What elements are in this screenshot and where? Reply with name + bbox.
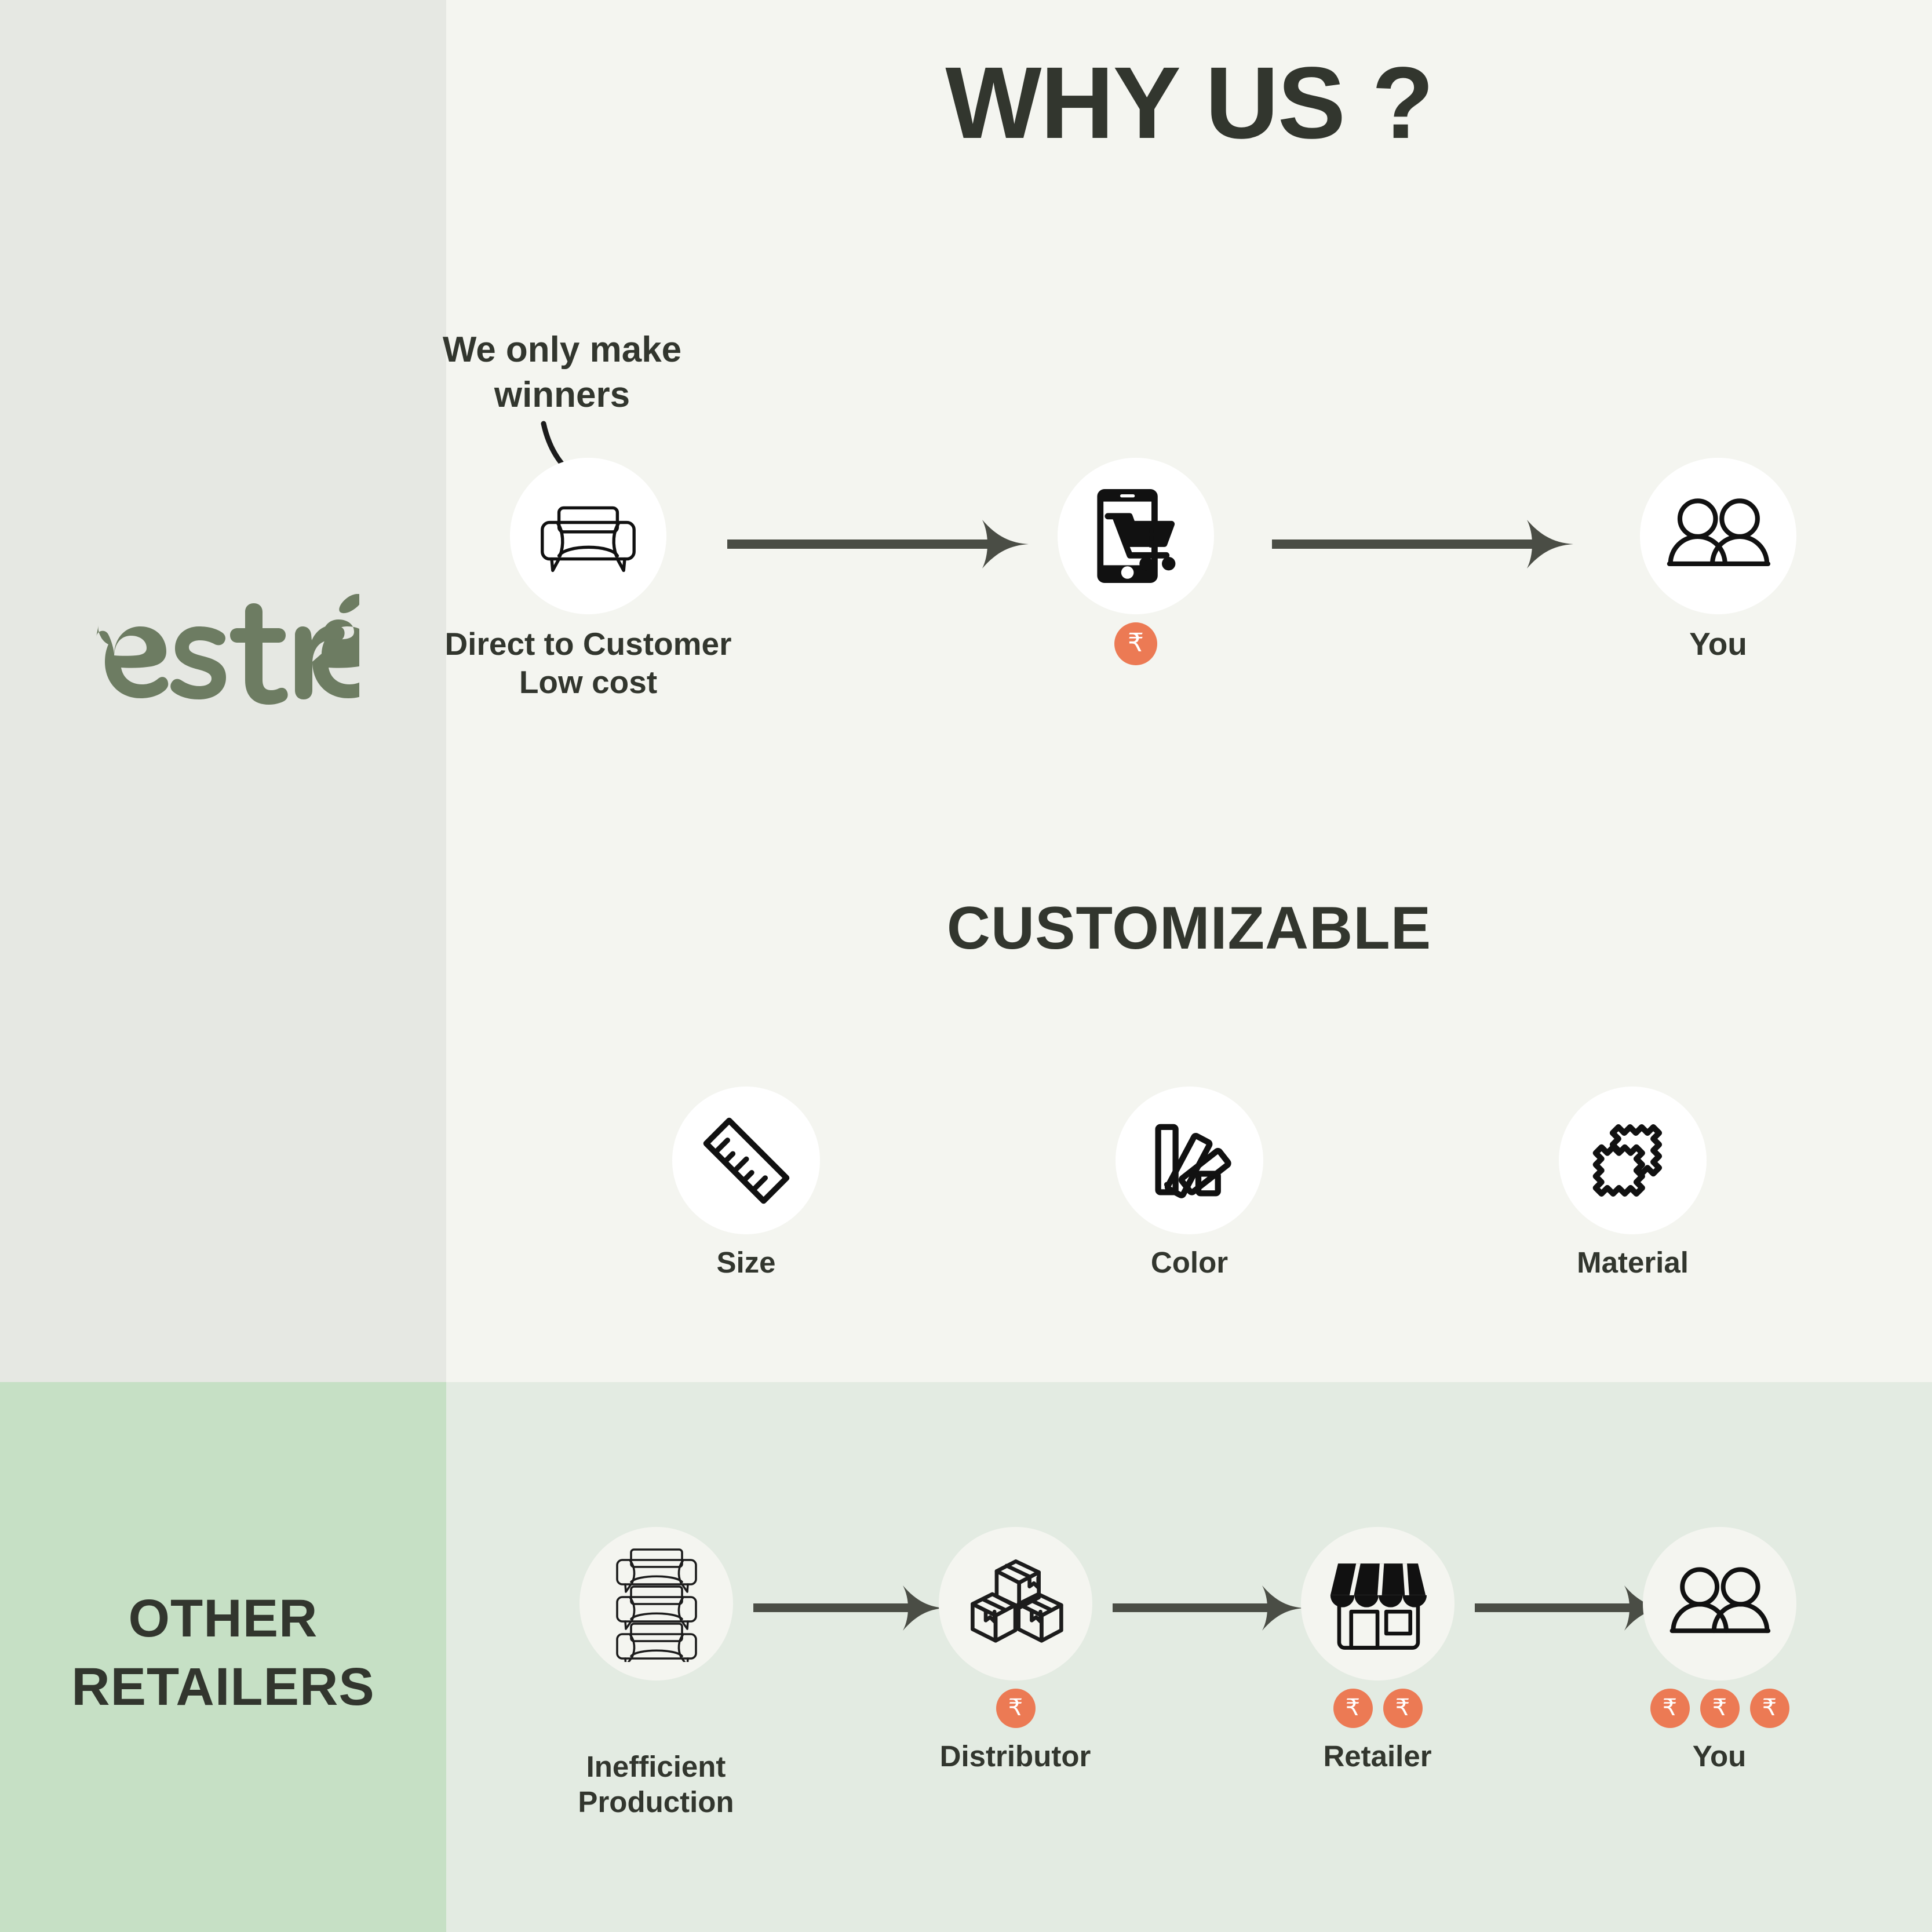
- retailer-step-2-coins: ₹: [939, 1689, 1092, 1728]
- fabric-swatches-icon: [1588, 1116, 1678, 1205]
- retailer-flow-arrow-2: [1113, 1582, 1304, 1634]
- estre-step-3-line1: You: [1640, 625, 1796, 663]
- material-bubble: [1559, 1087, 1707, 1234]
- two-people-icon: [1666, 1565, 1773, 1643]
- color-swatch-fan-icon: [1146, 1117, 1233, 1204]
- estre-wordmark-logo: [87, 594, 359, 710]
- sofa-icon: [536, 498, 640, 574]
- retailer-flow-step-production: Inefficient Production: [579, 1527, 733, 1820]
- customizable-option-size: Size: [672, 1087, 820, 1280]
- you-bubble-top: [1640, 458, 1796, 614]
- rupee-coin: ₹: [996, 1689, 1036, 1728]
- rupee-coin: ₹: [1114, 622, 1157, 665]
- size-bubble: [672, 1087, 820, 1234]
- boxes-icon: [964, 1555, 1068, 1653]
- rupee-coin: ₹: [1700, 1689, 1740, 1728]
- estre-flow-step-sofa: Direct to Customer Low cost: [510, 458, 666, 701]
- ruler-icon: [700, 1114, 793, 1207]
- rupee-coin: ₹: [1650, 1689, 1690, 1728]
- other-retailers-title: OTHER RETAILERS: [0, 1585, 446, 1722]
- rupee-coin: ₹: [1750, 1689, 1789, 1728]
- other-retailers-line1: OTHER: [0, 1585, 446, 1653]
- retailer-flow-arrow-1: [753, 1582, 945, 1634]
- mobile-cart-bubble: [1058, 458, 1214, 614]
- customizable-option-material: Material: [1559, 1087, 1707, 1280]
- stacked-sofas-bubble: [579, 1527, 733, 1681]
- estre-flow-arrow-1: [727, 513, 1029, 577]
- retailer-step-3-label: Retailer: [1256, 1738, 1499, 1774]
- stacked-sofas-icon: [610, 1546, 703, 1662]
- brand-logo: [0, 594, 446, 712]
- retailer-step-4-coins: ₹ ₹ ₹: [1643, 1689, 1796, 1728]
- estre-step-1-line2: Low cost: [414, 663, 762, 701]
- color-bubble: [1116, 1087, 1263, 1234]
- retailer-step-1-label: Inefficient Production: [505, 1749, 807, 1820]
- estre-step-3-label: You: [1640, 625, 1796, 663]
- estre-flow-step-mobile-cart: ₹: [1058, 458, 1214, 665]
- estre-flow-step-you: You: [1640, 458, 1796, 663]
- retailer-flow-step-you: ₹ ₹ ₹ You: [1643, 1527, 1796, 1774]
- boxes-bubble: [939, 1527, 1092, 1681]
- retailer-step-4-line1: You: [1598, 1738, 1841, 1774]
- callout-line2: winners: [494, 375, 630, 415]
- you-bubble-bottom: [1643, 1527, 1796, 1681]
- material-label: Material: [1559, 1245, 1707, 1280]
- estre-flow-arrow-2: [1272, 513, 1573, 577]
- page-title: WHY US ?: [446, 52, 1932, 154]
- sofa-bubble: [510, 458, 666, 614]
- retailer-flow-arrow-3: [1475, 1582, 1666, 1634]
- retailer-step-1-line1: Inefficient: [505, 1749, 807, 1784]
- storefront-bubble: [1301, 1527, 1455, 1681]
- two-people-icon: [1663, 495, 1773, 577]
- estre-step-1-line1: Direct to Customer: [414, 625, 762, 663]
- retailer-step-3-coins: ₹ ₹: [1301, 1689, 1455, 1728]
- size-label: Size: [672, 1245, 820, 1280]
- color-label: Color: [1116, 1245, 1263, 1280]
- retailer-step-2-line1: Distributor: [894, 1738, 1137, 1774]
- retailer-step-4-label: You: [1598, 1738, 1841, 1774]
- mobile-shopping-cart-icon: [1084, 484, 1188, 588]
- estre-step-2-coins: ₹: [1058, 622, 1214, 665]
- retailer-flow-step-distributor: ₹ Distributor: [939, 1527, 1092, 1774]
- customizable-title: CUSTOMIZABLE: [446, 898, 1932, 958]
- retailer-flow-step-retailer: ₹ ₹ Retailer: [1301, 1527, 1455, 1774]
- retailer-step-2-label: Distributor: [894, 1738, 1137, 1774]
- rupee-coin: ₹: [1333, 1689, 1373, 1728]
- retailer-step-3-line1: Retailer: [1256, 1738, 1499, 1774]
- estre-step-1-label: Direct to Customer Low cost: [414, 625, 762, 701]
- callout-text: We only make winners: [382, 327, 742, 418]
- storefront-icon: [1326, 1555, 1430, 1653]
- customizable-option-color: Color: [1116, 1087, 1263, 1280]
- retailer-step-1-line2: Production: [505, 1784, 807, 1820]
- callout-line1: We only make: [443, 330, 681, 370]
- other-retailers-line2: RETAILERS: [0, 1653, 446, 1722]
- rupee-coin: ₹: [1383, 1689, 1423, 1728]
